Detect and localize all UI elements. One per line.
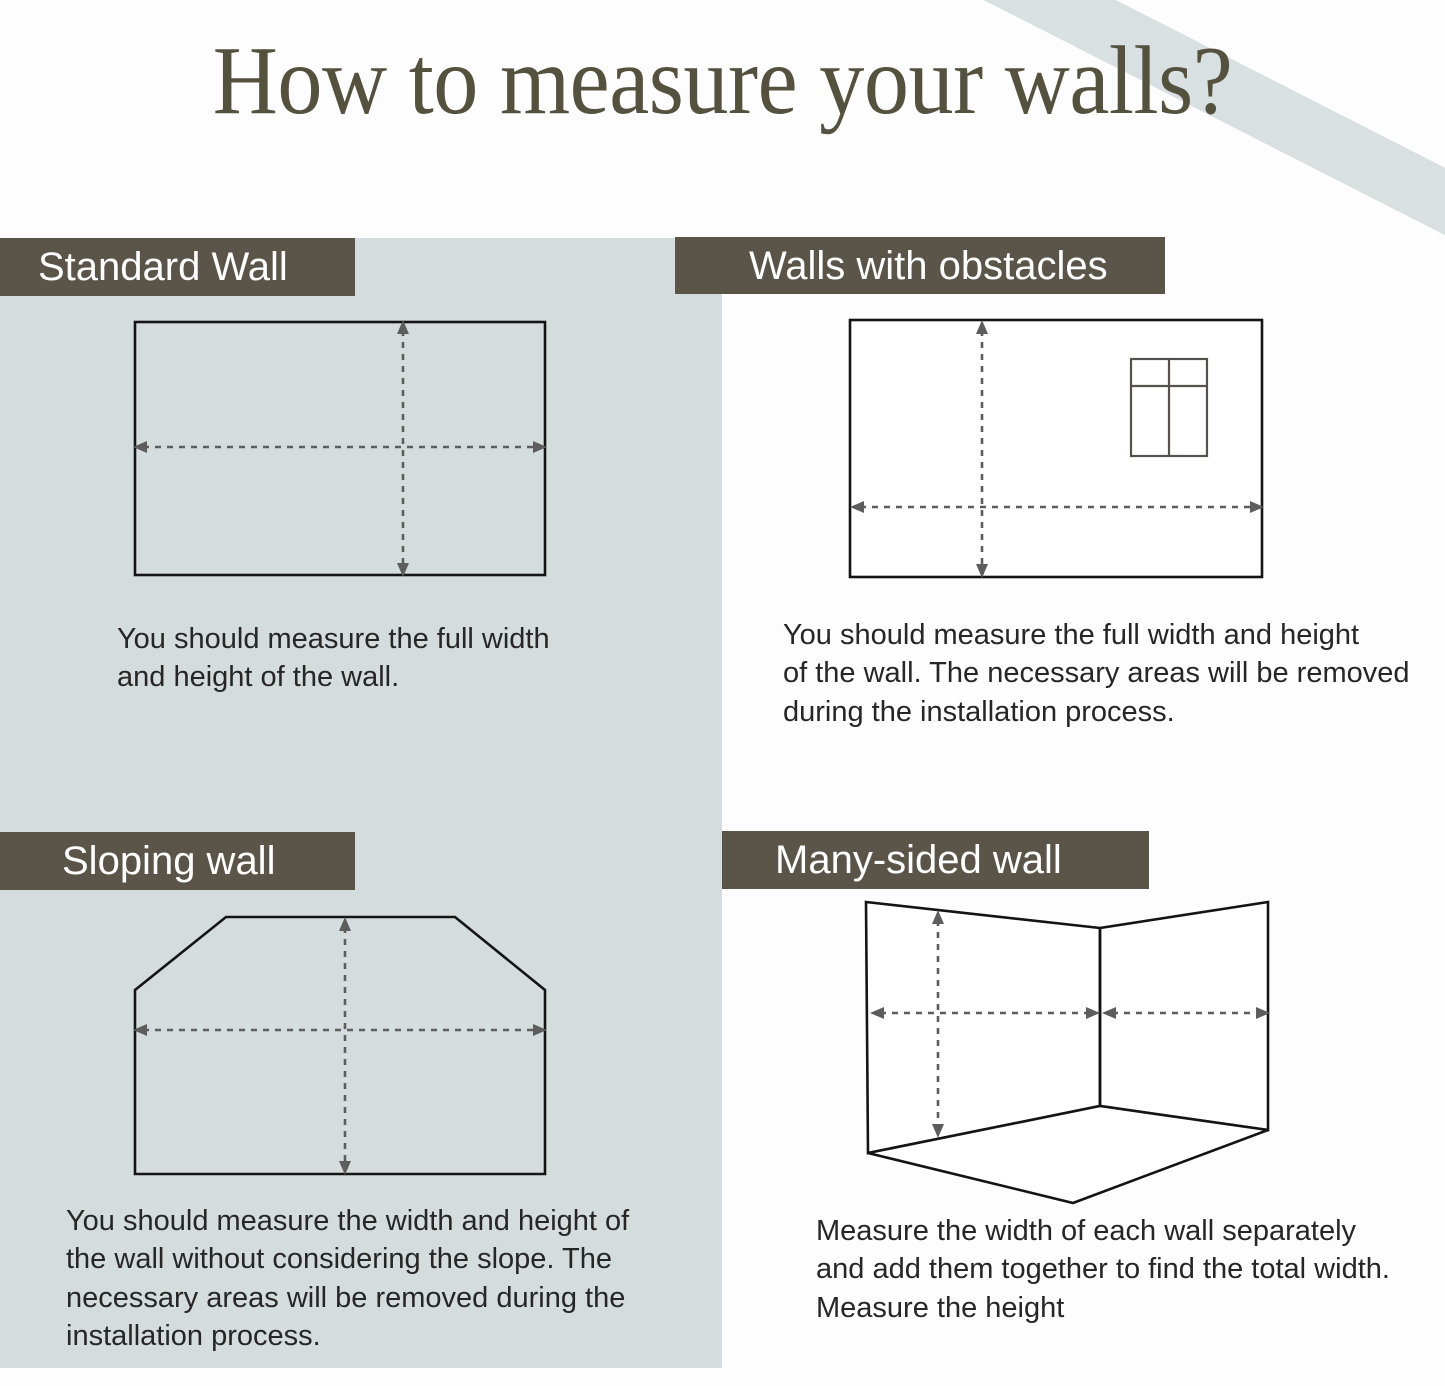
infographic-page: How to measure your walls? Standard Wall… <box>0 0 1445 1386</box>
section-heading-standard-wall: Standard Wall <box>0 238 355 296</box>
caption-sloping-wall: You should measure the width and height … <box>66 1202 666 1355</box>
diagram-sloping-wall <box>110 895 580 1195</box>
caption-standard-wall: You should measure the full width and he… <box>117 620 637 697</box>
caption-many-sided-wall: Measure the width of each wall separatel… <box>816 1212 1436 1327</box>
section-heading-label: Sloping wall <box>62 841 275 881</box>
diagram-many-sided-wall <box>840 885 1310 1215</box>
wall-rectangle-outline <box>135 322 545 575</box>
right-wall-panel <box>1100 902 1268 1130</box>
section-heading-sloping-wall: Sloping wall <box>0 832 355 890</box>
caption-walls-with-obstacles: You should measure the full width and he… <box>783 616 1423 731</box>
diagram-standard-wall <box>110 300 580 600</box>
sloped-wall-outline <box>135 917 545 1174</box>
section-heading-many-sided-wall: Many-sided wall <box>722 831 1149 889</box>
section-heading-walls-with-obstacles: Walls with obstacles <box>675 237 1165 294</box>
section-heading-label: Many-sided wall <box>775 840 1062 880</box>
section-heading-label: Walls with obstacles <box>749 246 1108 286</box>
section-heading-label: Standard Wall <box>38 247 288 287</box>
page-title: How to measure your walls? <box>58 28 1387 136</box>
diagram-walls-with-obstacles <box>830 300 1290 600</box>
